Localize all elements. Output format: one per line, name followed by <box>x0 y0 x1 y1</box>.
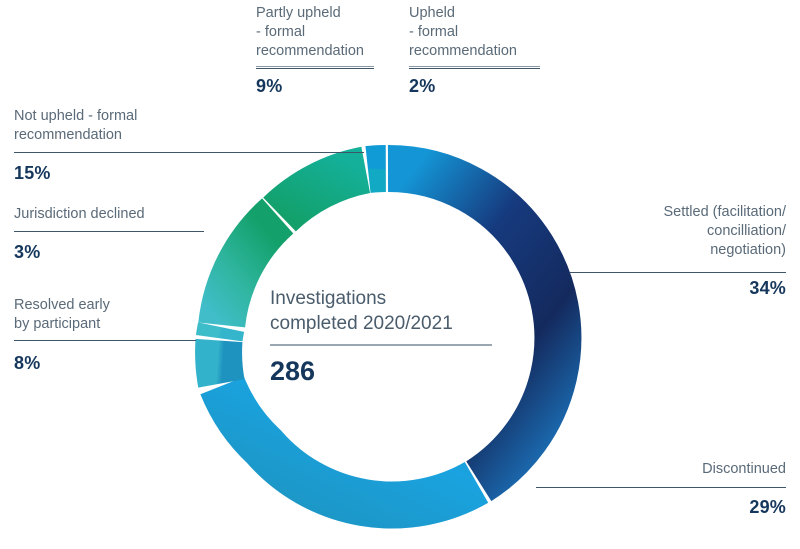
center-divider <box>270 344 492 346</box>
callout-discontinued: Discontinued 29% <box>536 460 786 518</box>
callout-partly-upheld-text: Partly upheld - formal recommendation <box>256 4 376 61</box>
callout-settled: Settled (facilitation/ concilliation/ ne… <box>570 203 786 299</box>
center-value: 286 <box>270 356 510 387</box>
callout-upheld-pct: 2% <box>409 76 542 97</box>
callout-not-upheld-text: Not upheld - formal recommendation <box>14 107 194 145</box>
segment-partly-upheld <box>280 170 366 215</box>
center-title: Investigations completed 2020/2021 <box>270 286 510 336</box>
segment-resolved-early <box>219 341 222 384</box>
callout-resolved-early: Resolved early by participant 8% <box>14 296 196 374</box>
center-summary: Investigations completed 2020/2021 286 <box>270 286 510 387</box>
callout-not-upheld: Not upheld - formal recommendation 15% <box>14 107 194 184</box>
callout-upheld-rule <box>409 66 540 67</box>
callout-discontinued-pct: 29% <box>536 497 786 518</box>
callout-jurisdiction-declined-text: Jurisdiction declined <box>14 205 204 224</box>
callout-upheld: Upheld - formal recommendation 2% <box>409 4 542 97</box>
callout-resolved-early-pct: 8% <box>14 353 196 374</box>
callout-jurisdiction-declined: Jurisdiction declined 3% <box>14 205 204 263</box>
segment-jurisdiction-declined <box>219 327 221 338</box>
callout-partly-upheld: Partly upheld - formal recommendation 9% <box>256 4 376 97</box>
callout-settled-pct: 34% <box>570 278 786 299</box>
callout-upheld-text: Upheld - formal recommendation <box>409 4 542 61</box>
callout-resolved-early-text: Resolved early by participant <box>14 296 196 334</box>
segment-upheld <box>368 169 386 170</box>
callout-settled-text: Settled (facilitation/ concilliation/ ne… <box>570 203 786 260</box>
callout-discontinued-text: Discontinued <box>536 460 786 479</box>
segment-discontinued <box>222 386 476 505</box>
callout-not-upheld-pct: 15% <box>14 163 194 184</box>
callout-jurisdiction-declined-pct: 3% <box>14 242 204 263</box>
callout-partly-upheld-rule <box>256 66 374 67</box>
callout-partly-upheld-pct: 9% <box>256 76 376 97</box>
